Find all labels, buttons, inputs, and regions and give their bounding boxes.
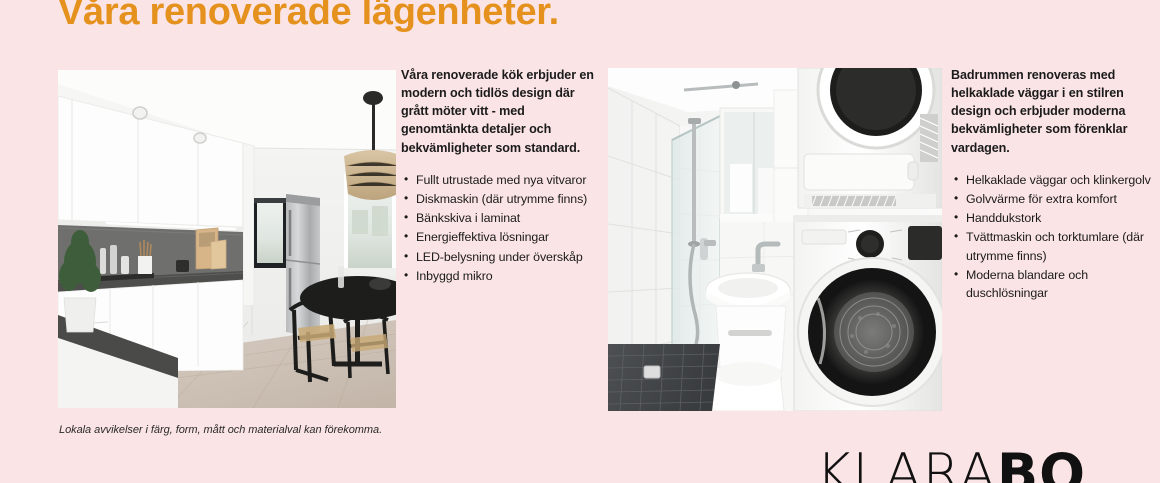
list-item: Inbyggd mikro xyxy=(401,267,597,285)
list-item: LED-belysning under överskåp xyxy=(401,248,597,266)
klarabo-logo: KLARABO xyxy=(816,447,1086,483)
bathroom-bullet-list: Helkaklade väggar och klinkergolv Golvvä… xyxy=(951,171,1151,303)
list-item: Moderna blandare och duschlösningar xyxy=(951,266,1151,302)
kitchen-photo-illustration xyxy=(58,70,396,408)
kitchen-text-column: Våra renoverade kök erbjuder en modern o… xyxy=(401,66,597,286)
bathroom-photo-illustration xyxy=(608,68,942,411)
kitchen-heading: Våra renoverade kök erbjuder en modern o… xyxy=(401,66,597,157)
kitchen-photo xyxy=(58,70,396,408)
kitchen-bullet-list: Fullt utrustade med nya vitvaror Diskmas… xyxy=(401,171,597,285)
list-item: Golvvärme för extra komfort xyxy=(951,190,1151,208)
bathroom-photo xyxy=(608,68,942,411)
bathroom-text-column: Badrummen renoveras med helkaklade vägga… xyxy=(951,66,1151,303)
list-item: Diskmaskin (där utrymme finns) xyxy=(401,190,597,208)
list-item: Tvättmaskin och torktumlare (där utrymme… xyxy=(951,228,1151,264)
disclaimer-footnote: Lokala avvikelser i färg, form, mått och… xyxy=(59,424,382,436)
list-item: Energieffektiva lösningar xyxy=(401,228,597,246)
list-item: Bänkskiva i laminat xyxy=(401,209,597,227)
list-item: Helkaklade väggar och klinkergolv xyxy=(951,171,1151,189)
slide-root: Våra renoverade lägenheter. xyxy=(0,0,1160,483)
list-item: Handdukstork xyxy=(951,209,1151,227)
logo-text-klara: KLARA xyxy=(816,442,997,483)
page-title: Våra renoverade lägenheter. xyxy=(58,0,559,35)
logo-text-bo: BO xyxy=(997,442,1086,483)
bathroom-heading: Badrummen renoveras med helkaklade vägga… xyxy=(951,66,1151,157)
list-item: Fullt utrustade med nya vitvaror xyxy=(401,171,597,189)
